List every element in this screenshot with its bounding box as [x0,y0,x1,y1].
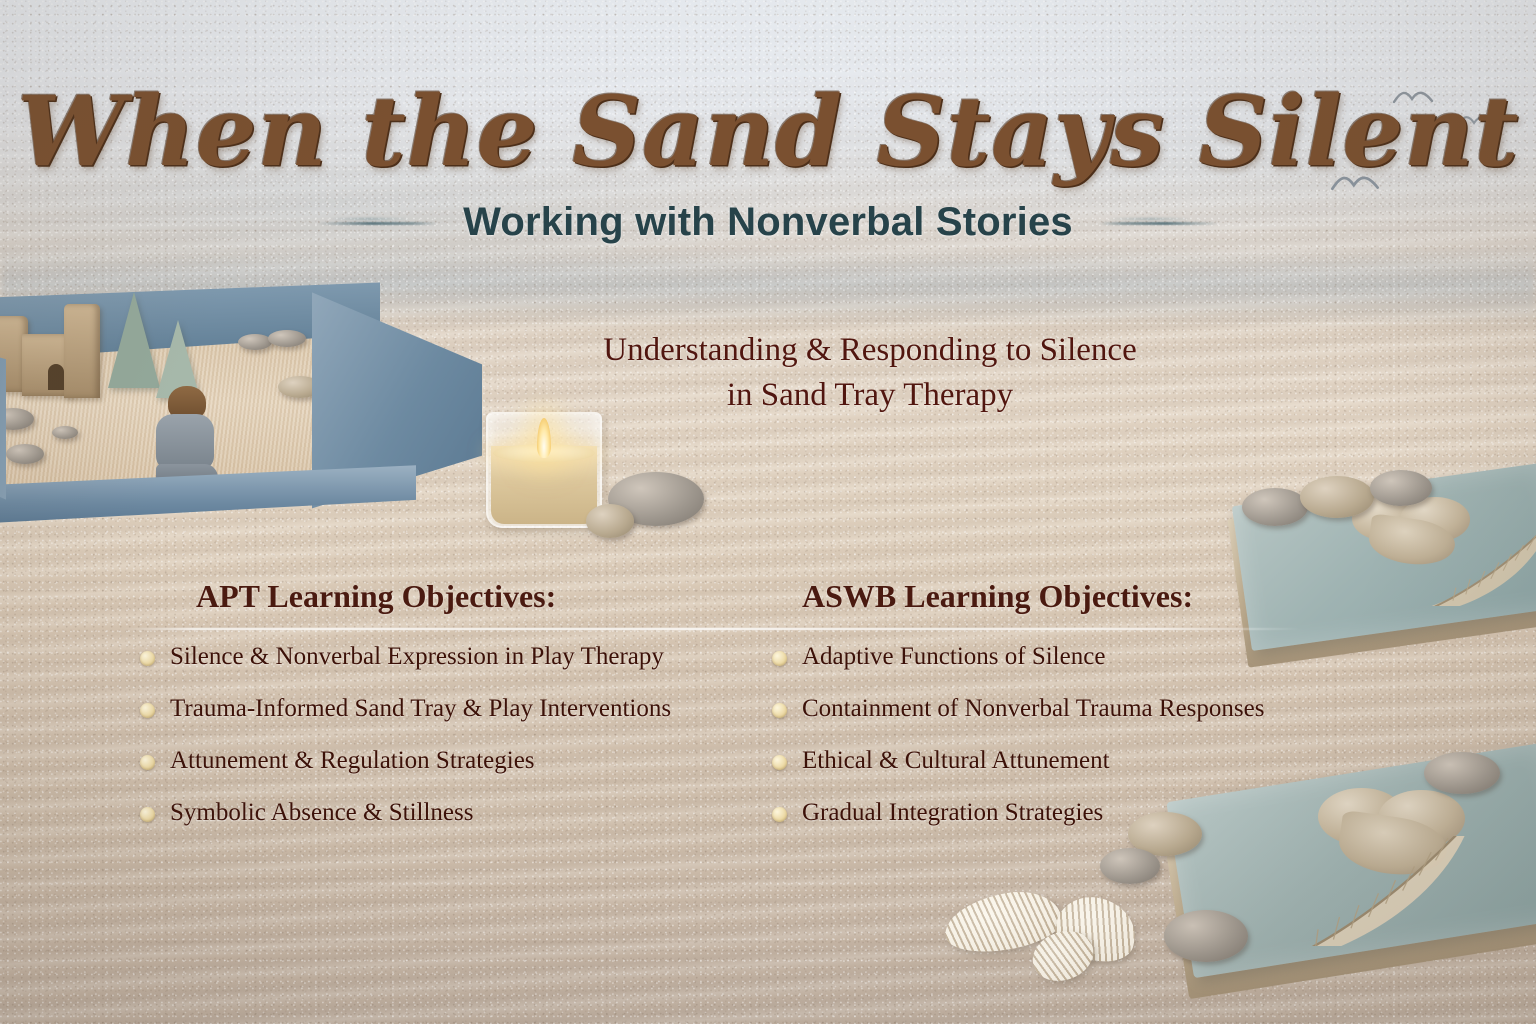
list-item-label: Containment of Nonverbal Trauma Response… [802,694,1264,724]
stone-cluster [1242,488,1308,526]
flourish-right-icon [1099,217,1219,229]
bullet-dot-icon [140,807,155,822]
child-figure-body [156,414,214,470]
apt-objectives-list: Silence & Nonverbal Expression in Play T… [140,642,760,850]
castle-doorway [48,364,64,390]
subtitle-row: Working with Nonverbal Stories [0,200,1536,245]
bullet-dot-icon [772,651,787,666]
stone-cluster [1300,476,1374,518]
list-item: Gradual Integration Strategies [772,798,1332,828]
list-item-label: Adaptive Functions of Silence [802,642,1105,672]
list-item-label: Symbolic Absence & Stillness [170,798,473,828]
bullet-dot-icon [140,651,155,666]
list-item-label: Silence & Nonverbal Expression in Play T… [170,642,664,672]
list-item: Silence & Nonverbal Expression in Play T… [140,642,760,672]
objectives-section: APT Learning Objectives: ASWB Learning O… [0,578,1536,622]
list-item-label: Ethical & Cultural Attunement [802,746,1110,776]
page-title: When the Sand Stays Silent [0,84,1536,180]
aswb-objectives-heading: ASWB Learning Objectives: [802,578,1193,615]
list-item-label: Gradual Integration Strategies [802,798,1103,828]
flourish-left-icon [317,217,437,229]
apt-objectives-heading: APT Learning Objectives: [196,578,556,615]
stone-cluster [1100,848,1160,884]
stone-cluster [1424,752,1500,794]
page-subtitle: Working with Nonverbal Stories [463,200,1073,245]
bullet-dot-icon [140,755,155,770]
objectives-headings: APT Learning Objectives: ASWB Learning O… [0,578,1536,622]
pine-tree [108,292,160,388]
poster-canvas: When the Sand Stays Silent Working with … [0,0,1536,1024]
sand-tray-scene [0,268,520,564]
aswb-objectives-list: Adaptive Functions of Silence Containmen… [772,642,1332,850]
list-item-label: Attunement & Regulation Strategies [170,746,535,776]
title-block: When the Sand Stays Silent Working with … [0,84,1536,245]
list-item: Adaptive Functions of Silence [772,642,1332,672]
list-item-label: Trauma-Informed Sand Tray & Play Interve… [170,694,671,724]
list-item: Ethical & Cultural Attunement [772,746,1332,776]
candle [486,412,602,528]
description-line-1: Understanding & Responding to Silence [520,328,1220,373]
bullet-dot-icon [140,703,155,718]
stone-cluster [1370,470,1432,506]
list-item: Containment of Nonverbal Trauma Response… [772,694,1332,724]
list-item: Attunement & Regulation Strategies [140,746,760,776]
description-line-2: in Sand Tray Therapy [520,373,1220,418]
stone-cluster [1164,910,1248,962]
tray-stone [238,334,272,350]
stone-small [586,504,634,538]
feather-icon [1268,836,1498,946]
list-item: Symbolic Absence & Stillness [140,798,760,828]
bullet-dot-icon [772,755,787,770]
description-block: Understanding & Responding to Silence in… [520,328,1220,417]
bullet-dot-icon [772,807,787,822]
tray-stone [52,426,78,439]
castle-tower [64,304,100,398]
list-item: Trauma-Informed Sand Tray & Play Interve… [140,694,760,724]
bullet-dot-icon [772,703,787,718]
tray-stone [268,330,306,347]
tray-left-wall [0,334,6,514]
tray-stone [6,444,44,464]
objectives-divider [122,628,1302,630]
